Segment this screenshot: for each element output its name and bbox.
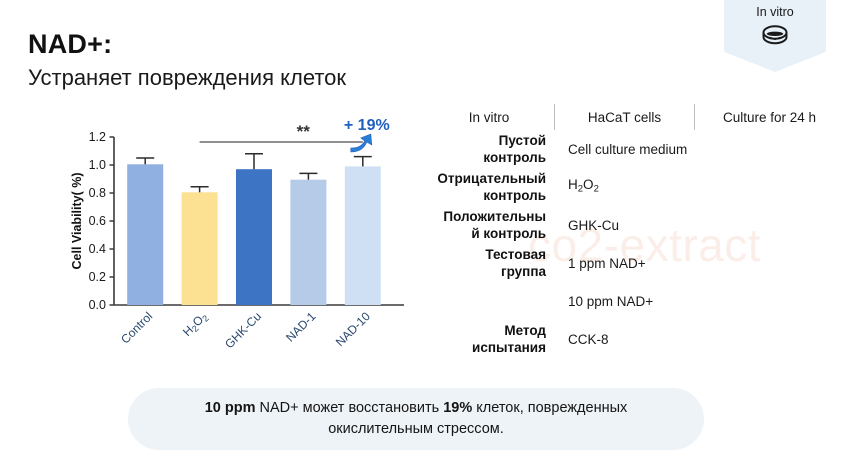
y-axis-tick-label: 0.8 bbox=[89, 186, 106, 200]
table-row-value: 1 ppm NAD+ bbox=[552, 255, 646, 272]
y-axis-tick-label: 0.0 bbox=[89, 298, 106, 312]
summary-callout: 10 ppm NAD+ может восстановить 19% клето… bbox=[128, 388, 704, 450]
table-row-label: Положительный контроль bbox=[424, 208, 552, 242]
chart-bar bbox=[290, 180, 326, 305]
chart-bar bbox=[236, 169, 272, 305]
x-axis-tick-label: GHK-Cu bbox=[222, 309, 264, 351]
y-axis-tick-label: 0.2 bbox=[89, 270, 106, 284]
y-axis-tick-label: 0.4 bbox=[89, 242, 106, 256]
table-row-label: Методиспытания bbox=[424, 322, 552, 356]
table-header-cell: In vitro bbox=[424, 104, 554, 130]
table-row-label: Отрицательныйконтроль bbox=[424, 170, 552, 204]
improvement-arrow-icon bbox=[351, 134, 372, 152]
chart-bar bbox=[182, 192, 218, 305]
improvement-label: + 19% bbox=[344, 117, 390, 134]
table-header-cell: HaCaT cells bbox=[554, 104, 694, 130]
significance-stars: ** bbox=[297, 122, 311, 141]
table-row: Положительный контрольGHK-Cu bbox=[424, 206, 844, 244]
y-axis-tick-label: 1.2 bbox=[89, 130, 106, 144]
table-row: МетодиспытанияCCK-8 bbox=[424, 320, 844, 358]
table-row: ОтрицательныйконтрольH2O2 bbox=[424, 168, 844, 206]
table-row-value: 10 ppm NAD+ bbox=[552, 293, 653, 310]
summary-bold-percent: 19% bbox=[443, 400, 472, 416]
in-vitro-badge: In vitro bbox=[724, 0, 826, 72]
summary-bold-dose: 10 ppm bbox=[205, 400, 256, 416]
table-row-label: Тестоваягруппа bbox=[424, 246, 552, 280]
chart-canvas: 0.00.20.40.60.81.01.2Cell Viability( %)C… bbox=[60, 112, 410, 372]
x-axis-tick-label: NAD-10 bbox=[333, 309, 373, 349]
in-vitro-badge-label: In vitro bbox=[756, 4, 794, 20]
x-axis-tick-label: NAD-1 bbox=[283, 309, 319, 345]
table-row: ПустойконтрольCell culture medium bbox=[424, 130, 844, 168]
y-axis-tick-label: 1.0 bbox=[89, 158, 106, 172]
table-row-value: H2O2 bbox=[552, 176, 599, 197]
x-axis-tick-label: H2O2 bbox=[180, 309, 211, 340]
x-axis-tick-label: Control bbox=[118, 309, 155, 346]
table-row-label: Пустойконтроль bbox=[424, 132, 552, 166]
table-row: Тестоваягруппа1 ppm NAD+ bbox=[424, 244, 844, 282]
summary-callout-text: 10 ppm NAD+ может восстановить 19% клето… bbox=[154, 398, 678, 440]
table-row: 10 ppm NAD+ bbox=[424, 282, 844, 320]
experiment-info-table: In vitro HaCaT cells Culture for 24 h Пу… bbox=[424, 104, 844, 358]
headline-subtitle: Устраняет повреждения клеток bbox=[28, 63, 346, 93]
chart-bar bbox=[127, 164, 163, 305]
cell-viability-bar-chart: 0.00.20.40.60.81.01.2Cell Viability( %)C… bbox=[60, 112, 410, 372]
table-body: ПустойконтрольCell culture mediumОтрицат… bbox=[424, 130, 844, 358]
table-row-value: GHK-Cu bbox=[552, 217, 619, 234]
chart-bar bbox=[345, 166, 381, 305]
table-row-value: Cell culture medium bbox=[552, 141, 687, 158]
headline-title: NAD+: bbox=[28, 28, 346, 60]
table-header-row: In vitro HaCaT cells Culture for 24 h bbox=[424, 104, 844, 130]
headline: NAD+: Устраняет повреждения клеток bbox=[28, 28, 346, 93]
summary-text-1: NAD+ может восстановить bbox=[255, 400, 443, 416]
y-axis-tick-label: 0.6 bbox=[89, 214, 106, 228]
y-axis-title: Cell Viability( %) bbox=[70, 172, 84, 269]
table-header-cell: Culture for 24 h bbox=[694, 104, 844, 130]
table-row-value: CCK-8 bbox=[552, 331, 609, 348]
petri-dish-icon bbox=[760, 23, 790, 54]
